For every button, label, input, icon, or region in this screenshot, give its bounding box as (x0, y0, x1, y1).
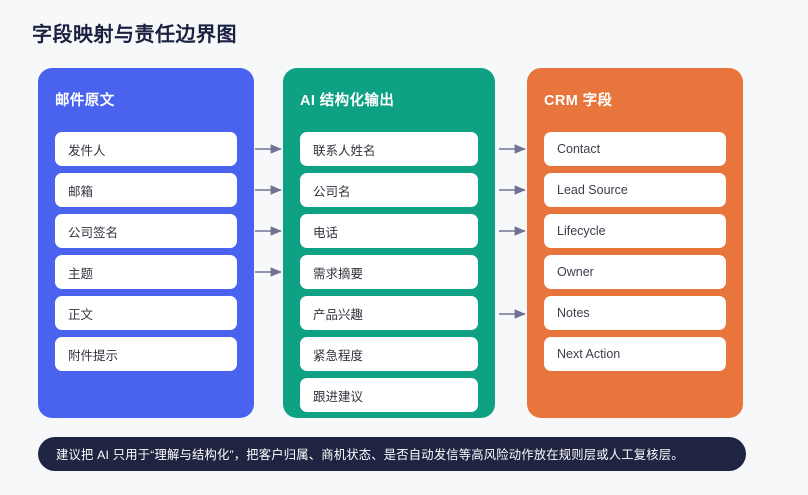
panel-title-email-source: 邮件原文 (55, 89, 115, 110)
list-item[interactable]: 跟进建议 (300, 378, 478, 412)
list-item[interactable]: 紧急程度 (300, 337, 478, 371)
list-item[interactable]: 邮箱 (55, 173, 237, 207)
footer-note: 建议把 AI 只用于“理解与结构化”，把客户归属、商机状态、是否自动发信等高风险… (38, 437, 746, 471)
list-item[interactable]: 联系人姓名 (300, 132, 478, 166)
panel-title-ai-structured-output: AI 结构化输出 (300, 89, 394, 110)
arrow-group-ai-to-crm (499, 149, 525, 314)
list-item[interactable]: 产品兴趣 (300, 296, 478, 330)
panel-email-source: 邮件原文 发件人 邮箱 公司签名 主题 正文 附件提示 (38, 68, 254, 418)
list-item[interactable]: 发件人 (55, 132, 237, 166)
list-item[interactable]: 公司签名 (55, 214, 237, 248)
list-item[interactable]: 正文 (55, 296, 237, 330)
list-item[interactable]: 主题 (55, 255, 237, 289)
panel-title-crm-fields: CRM 字段 (544, 89, 612, 110)
panel-ai-structured-output: AI 结构化输出 联系人姓名 公司名 电话 需求摘要 产品兴趣 紧急程度 跟进建… (283, 68, 495, 418)
panel-card-list-email-source: 发件人 邮箱 公司签名 主题 正文 附件提示 (55, 132, 237, 378)
list-item[interactable]: Notes (544, 296, 726, 330)
list-item[interactable]: Lifecycle (544, 214, 726, 248)
list-item[interactable]: 电话 (300, 214, 478, 248)
panel-card-list-ai-structured-output: 联系人姓名 公司名 电话 需求摘要 产品兴趣 紧急程度 跟进建议 (300, 132, 478, 419)
field-mapping-diagram: 邮件原文 发件人 邮箱 公司签名 主题 正文 附件提示 AI 结构化输出 联系人… (0, 0, 808, 495)
list-item[interactable]: 附件提示 (55, 337, 237, 371)
arrow-group-source-to-ai (255, 149, 281, 272)
list-item[interactable]: Owner (544, 255, 726, 289)
panel-card-list-crm-fields: Contact Lead Source Lifecycle Owner Note… (544, 132, 726, 378)
list-item[interactable]: Lead Source (544, 173, 726, 207)
list-item[interactable]: 需求摘要 (300, 255, 478, 289)
footer-note-text: 建议把 AI 只用于“理解与结构化”，把客户归属、商机状态、是否自动发信等高风险… (56, 445, 684, 463)
list-item[interactable]: 公司名 (300, 173, 478, 207)
panel-crm-fields: CRM 字段 Contact Lead Source Lifecycle Own… (527, 68, 743, 418)
list-item[interactable]: Next Action (544, 337, 726, 371)
list-item[interactable]: Contact (544, 132, 726, 166)
